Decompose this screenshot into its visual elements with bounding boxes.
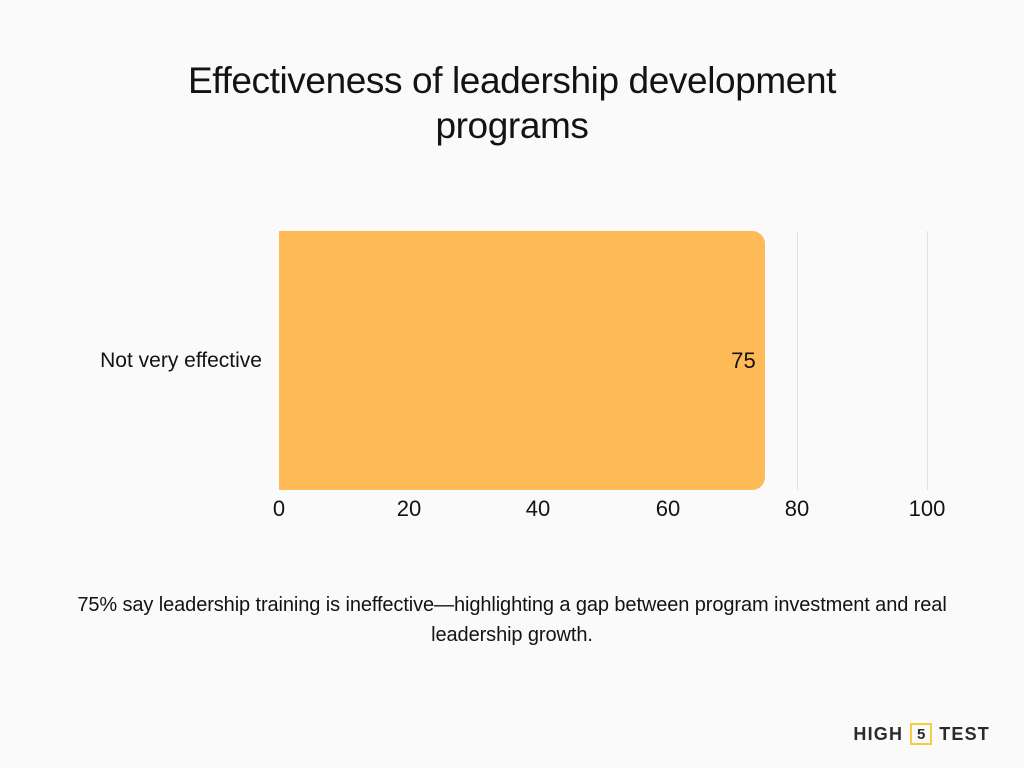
- y-axis-labels: Not very effective: [0, 231, 262, 490]
- page-title: Effectiveness of leadership development …: [112, 58, 912, 148]
- x-tick-label-60: 60: [656, 496, 680, 522]
- x-tick-label-40: 40: [526, 496, 550, 522]
- brand-logo: HIGH 5 TEST: [853, 723, 990, 745]
- bar-value-label: 75: [731, 348, 756, 374]
- x-axis-labels: 0 20 40 60 80 100: [279, 496, 927, 530]
- gridline-100: [927, 231, 928, 490]
- x-tick-label-100: 100: [909, 496, 946, 522]
- logo-five-digit: 5: [917, 727, 925, 742]
- logo-word-high: HIGH: [853, 725, 903, 743]
- chart-plot-area: 75: [279, 231, 927, 490]
- chart-caption: 75% say leadership training is ineffecti…: [62, 590, 962, 650]
- logo-five-box: 5: [910, 723, 932, 745]
- gridline-80: [797, 231, 798, 490]
- y-axis-category-not-very-effective: Not very effective: [100, 349, 262, 373]
- x-tick-label-80: 80: [785, 496, 809, 522]
- x-tick-label-20: 20: [397, 496, 421, 522]
- x-tick-label-0: 0: [273, 496, 285, 522]
- logo-word-test: TEST: [939, 725, 990, 743]
- bar-not-very-effective[interactable]: 75: [279, 231, 765, 490]
